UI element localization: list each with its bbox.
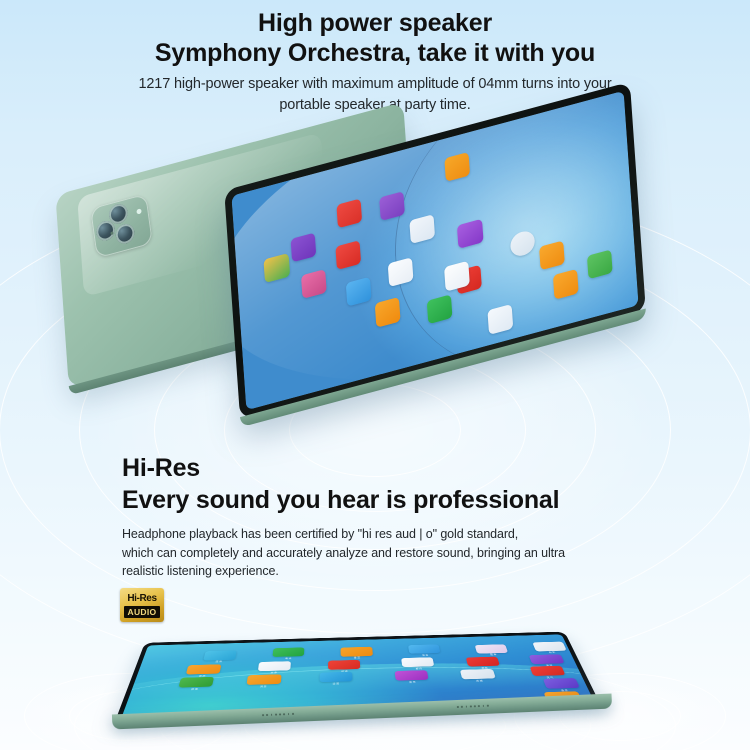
app-icon-label: 信 息 bbox=[407, 654, 444, 657]
grille-dot bbox=[271, 714, 273, 716]
hires-heading-line1: Hi-Res bbox=[122, 452, 662, 484]
speaker-grille-left bbox=[262, 712, 294, 717]
app-icon[interactable] bbox=[272, 648, 304, 658]
app-icon[interactable] bbox=[475, 644, 509, 653]
speaker-grille-right bbox=[457, 704, 489, 709]
grille-dot bbox=[470, 706, 472, 708]
grille-dot bbox=[487, 705, 489, 707]
grille-dot bbox=[283, 713, 285, 715]
app-icon-label: 备 忘 bbox=[339, 656, 376, 659]
grille-dot bbox=[262, 714, 264, 716]
app-icon[interactable] bbox=[408, 645, 441, 654]
grille-dot bbox=[275, 714, 277, 716]
app-icon[interactable] bbox=[401, 657, 434, 667]
camera-lens-icon bbox=[115, 222, 136, 246]
speaker-text-block: High power speaker Symphony Orchestra, t… bbox=[0, 8, 750, 116]
speaker-heading-line1: High power speaker bbox=[0, 8, 750, 38]
hires-body-line1: Headphone playback has been certified by… bbox=[122, 525, 662, 544]
lower-app-icon-grid: 应 用电 话备 忘信 息图 库相 机日 历文 件时 钟邮 件视 频游 戏应 用浏… bbox=[148, 634, 561, 645]
hires-text-block: Hi-Res Every sound you hear is professio… bbox=[122, 452, 662, 581]
app-icon[interactable] bbox=[460, 669, 495, 679]
grille-dot bbox=[288, 713, 290, 715]
grille-dot bbox=[465, 706, 467, 708]
speaker-heading-line2: Symphony Orchestra, take it with you bbox=[0, 38, 750, 68]
speaker-body-line1: 1217 high-power speaker with maximum amp… bbox=[0, 74, 750, 95]
hires-heading-line2: Every sound you hear is professional bbox=[122, 484, 662, 516]
app-icon[interactable] bbox=[529, 666, 565, 676]
hires-body-line3: realistic listening experience. bbox=[122, 562, 662, 581]
app-icon[interactable] bbox=[394, 670, 428, 680]
flash-icon bbox=[136, 208, 142, 214]
grille-dot bbox=[483, 705, 485, 707]
grille-dot bbox=[461, 706, 463, 708]
app-icon-label: 应 用 bbox=[200, 660, 238, 663]
app-icon[interactable] bbox=[529, 654, 564, 664]
hires-body-line2: which can completely and accurately anal… bbox=[122, 544, 662, 563]
upper-tablet-scene bbox=[0, 130, 750, 420]
app-icon[interactable] bbox=[203, 651, 237, 661]
app-icon[interactable] bbox=[466, 657, 500, 667]
app-icon[interactable] bbox=[319, 672, 352, 683]
app-icon[interactable] bbox=[186, 664, 221, 674]
grille-dot bbox=[292, 713, 294, 715]
grille-dot bbox=[478, 705, 480, 707]
lower-tablet-scene: 应 用电 话备 忘信 息图 库相 机日 历文 件时 钟邮 件视 频游 戏应 用浏… bbox=[0, 586, 750, 750]
app-icon[interactable] bbox=[328, 660, 360, 670]
app-icon[interactable] bbox=[178, 677, 214, 688]
grille-dot bbox=[457, 706, 459, 708]
app-icon[interactable] bbox=[341, 647, 373, 657]
grille-dot bbox=[266, 714, 268, 716]
grille-dot bbox=[279, 714, 281, 716]
app-icon[interactable] bbox=[543, 678, 580, 689]
app-icon[interactable] bbox=[247, 674, 281, 685]
app-icon-label: 电 话 bbox=[270, 657, 307, 660]
grille-dot bbox=[474, 705, 476, 707]
product-marketing-page: High power speaker Symphony Orchestra, t… bbox=[0, 0, 750, 750]
app-icon[interactable] bbox=[258, 661, 291, 671]
app-icon[interactable] bbox=[532, 642, 567, 651]
